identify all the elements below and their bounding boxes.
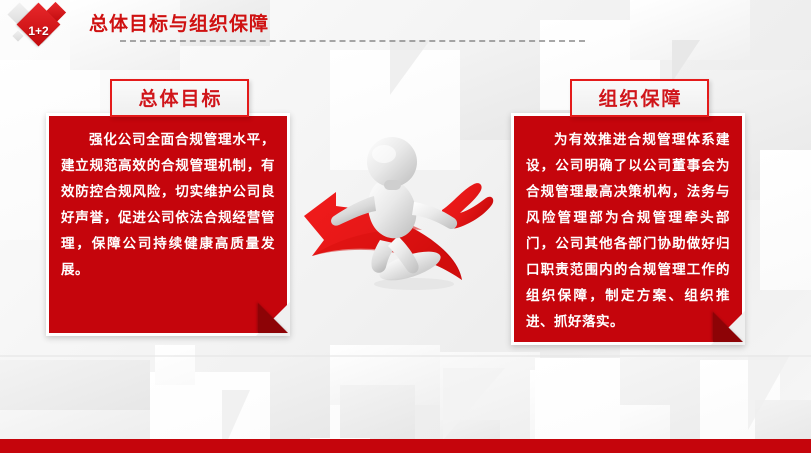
card-fold-corner (258, 303, 288, 333)
page-title: 总体目标与组织保障 (89, 9, 269, 36)
card-text: 为有效推进合规管理体系建设，公司明确了以公司董事会为合规管理最高决策机构，法务与… (526, 127, 730, 335)
card-title-overall-goal: 总体目标 (110, 79, 249, 117)
card-body-overall-goal: 强化公司全面合规管理水平，建立规范高效的合规管理机制，有效防控合规风险，切实维护… (46, 113, 290, 336)
logo: 1+2 (5, 2, 85, 48)
card-title-organizational-guarantee: 组织保障 (570, 79, 709, 117)
illustration-person-on-arrow (302, 118, 524, 293)
bottom-accent-bar (0, 439, 811, 453)
card-text: 强化公司全面合规管理水平，建立规范高效的合规管理机制，有效防控合规风险，切实维护… (61, 127, 275, 283)
card-fold-corner (713, 312, 743, 342)
logo-text: 1+2 (23, 15, 54, 46)
header-divider (120, 40, 585, 42)
diamond-decor-icon (12, 30, 23, 41)
head (367, 137, 417, 187)
slide-canvas: 1+2 总体目标与组织保障 总体目标 强化公司全面合规管理水平，建立规范高效的合… (0, 0, 811, 453)
slide-header: 1+2 总体目标与组织保障 (0, 0, 811, 48)
card-body-organizational-guarantee: 为有效推进合规管理体系建设，公司明确了以公司董事会为合规管理最高决策机构，法务与… (511, 113, 745, 345)
